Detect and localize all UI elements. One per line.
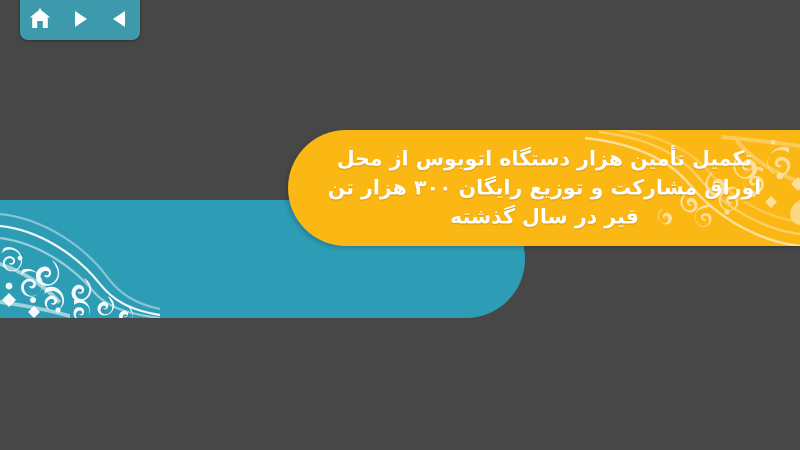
- headline-banner: تکمیل تأمین هزار دستگاه اتوبوس از محل او…: [288, 130, 800, 246]
- home-icon[interactable]: [25, 5, 55, 33]
- back-icon[interactable]: [105, 5, 135, 33]
- headline-text: تکمیل تأمین هزار دستگاه اتوبوس از محل او…: [317, 144, 772, 231]
- arabesque-ornament-teal: [0, 200, 160, 318]
- slide-canvas: تکمیل تأمین هزار دستگاه اتوبوس از محل او…: [0, 0, 800, 450]
- navigation-bar[interactable]: [20, 0, 140, 40]
- forward-icon[interactable]: [65, 5, 95, 33]
